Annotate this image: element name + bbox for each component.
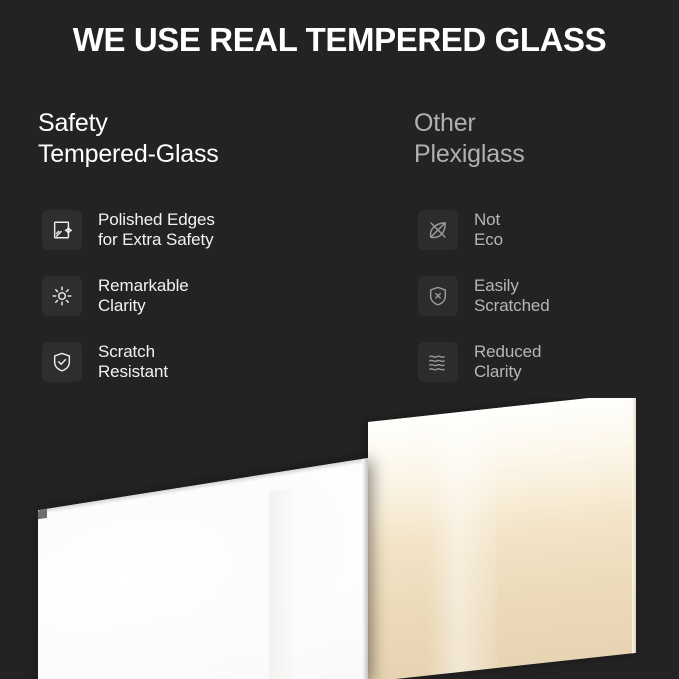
feature-label: Scratch Resistant: [98, 342, 168, 383]
page-title: WE USE REAL TEMPERED GLASS: [0, 20, 679, 60]
feature-label: Easily Scratched: [474, 276, 550, 317]
feature-item: Easily Scratched: [414, 273, 674, 319]
feature-label-line1: Scratch: [98, 342, 155, 361]
leaf-crossed-out-icon: [418, 210, 458, 250]
feature-item: Polished Edges for Extra Safety: [38, 207, 378, 253]
feature-label: Remarkable Clarity: [98, 276, 189, 317]
column-other-plexiglass: Other Plexiglass Not Eco: [414, 108, 674, 385]
column-title: Other Plexiglass: [414, 108, 674, 169]
feature-label-line1: Easily: [474, 276, 519, 295]
column-title-line2: Plexiglass: [414, 139, 674, 170]
glass-corner-highlight: [38, 509, 47, 519]
polished-edge-sparkle-icon: [42, 210, 82, 250]
glass-reflection: [269, 483, 322, 679]
feature-item: Not Eco: [414, 207, 674, 253]
feature-item: Remarkable Clarity: [38, 273, 378, 319]
feature-label-line2: Scratched: [474, 296, 550, 317]
feature-list: Polished Edges for Extra Safety: [38, 207, 378, 385]
feature-item: Scratch Resistant: [38, 339, 378, 385]
feature-label-line1: Not: [474, 210, 500, 229]
feature-label-line1: Reduced: [474, 342, 541, 361]
feature-item: Reduced Clarity: [414, 339, 674, 385]
feature-label-line2: Resistant: [98, 362, 168, 383]
feature-label-line2: Eco: [474, 230, 503, 251]
feature-label-line1: Polished Edges: [98, 210, 215, 229]
product-comparison-graphic: WE USE REAL TEMPERED GLASS Safety Temper…: [0, 0, 679, 679]
feature-list: Not Eco Easily Scratched: [414, 207, 674, 385]
feature-label: Polished Edges for Extra Safety: [98, 210, 215, 251]
feature-label-line2: Clarity: [474, 362, 541, 383]
product-photo: [0, 398, 679, 679]
plexi-right-edge: [632, 398, 636, 653]
column-title-line1: Other: [414, 109, 476, 137]
tempered-glass-panel: [38, 458, 368, 679]
column-safety-tempered-glass: Safety Tempered-Glass Polished Edges for…: [38, 108, 378, 385]
plexi-reflection: [427, 408, 497, 676]
column-title: Safety Tempered-Glass: [38, 108, 378, 169]
feature-label-line2: Clarity: [98, 296, 189, 317]
plexiglass-panel: [368, 398, 636, 679]
column-title-line1: Safety: [38, 109, 108, 137]
glass-right-edge: [362, 458, 368, 679]
column-title-line2: Tempered-Glass: [38, 139, 378, 170]
plexi-top-glow: [368, 398, 636, 542]
wavy-distortion-icon: [418, 342, 458, 382]
feature-label: Reduced Clarity: [474, 342, 541, 383]
feature-label-line1: Remarkable: [98, 276, 189, 295]
shield-check-icon: [42, 342, 82, 382]
feature-label-line2: for Extra Safety: [98, 230, 215, 251]
shield-x-icon: [418, 276, 458, 316]
feature-label: Not Eco: [474, 210, 503, 251]
sun-brightness-icon: [42, 276, 82, 316]
